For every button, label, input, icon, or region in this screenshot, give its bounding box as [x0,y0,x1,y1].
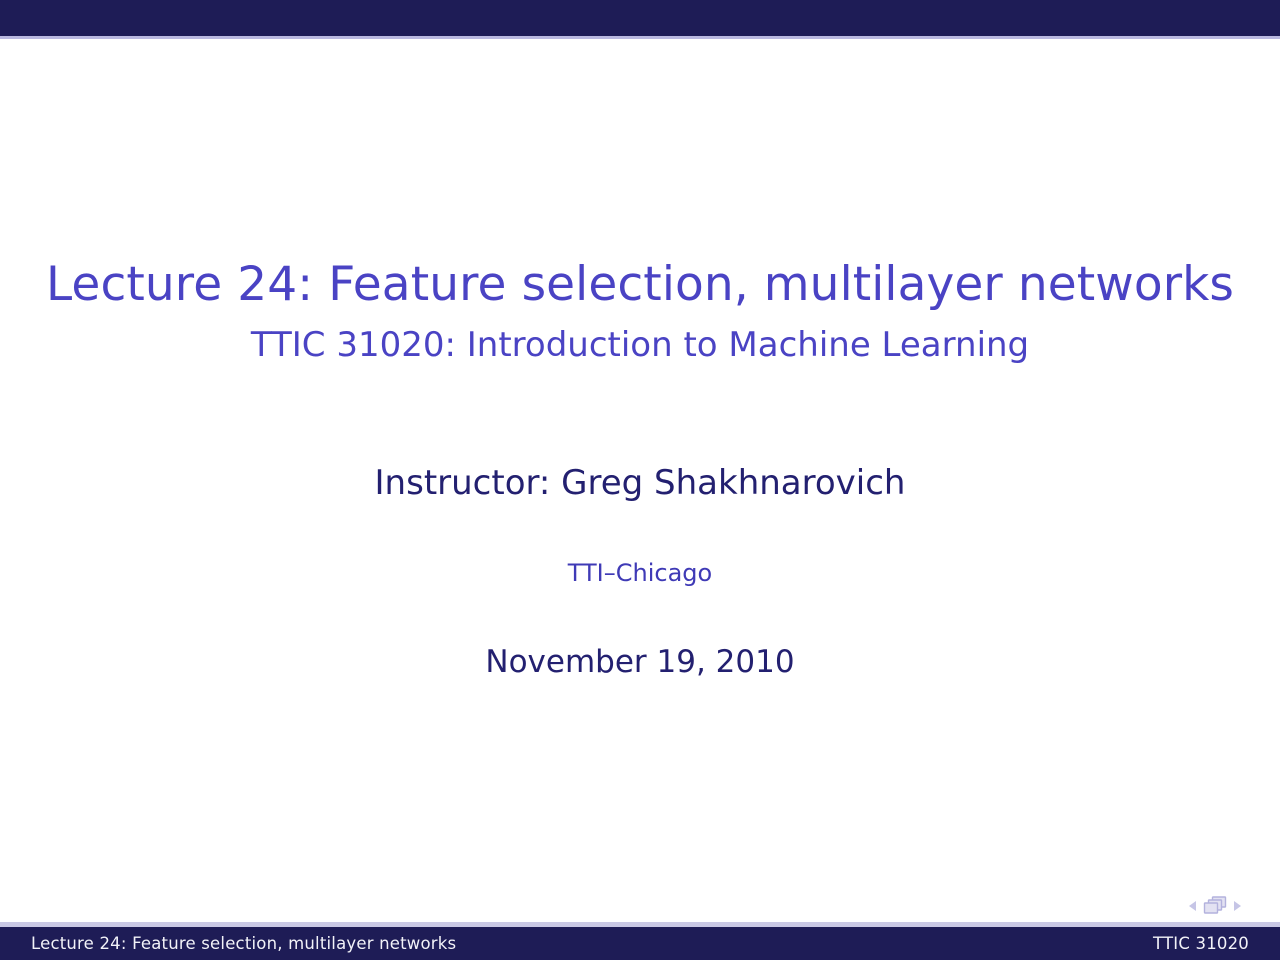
page-subtitle: TTIC 31020: Introduction to Machine Lear… [0,323,1280,367]
header-bar [0,0,1280,36]
presentation-slide: Lecture 24: Feature selection, multilaye… [0,0,1280,960]
date-line: November 19, 2010 [0,642,1280,682]
institute-line: TTI–Chicago [0,558,1280,588]
footer-title-text: Lecture 24: Feature selection, multilaye… [31,934,456,954]
triangle-right-icon[interactable] [1234,901,1241,911]
triangle-left-icon[interactable] [1189,901,1196,911]
page-title: Lecture 24: Feature selection, multilaye… [0,255,1280,315]
stacked-frames-icon[interactable] [1201,895,1229,917]
navigation-symbols [1189,893,1241,919]
header-rule [0,36,1280,39]
author-line: Instructor: Greg Shakhnarovich [0,462,1280,504]
footer-course-text: TTIC 31020 [1153,934,1249,954]
title-block: Lecture 24: Feature selection, multilaye… [0,255,1280,367]
